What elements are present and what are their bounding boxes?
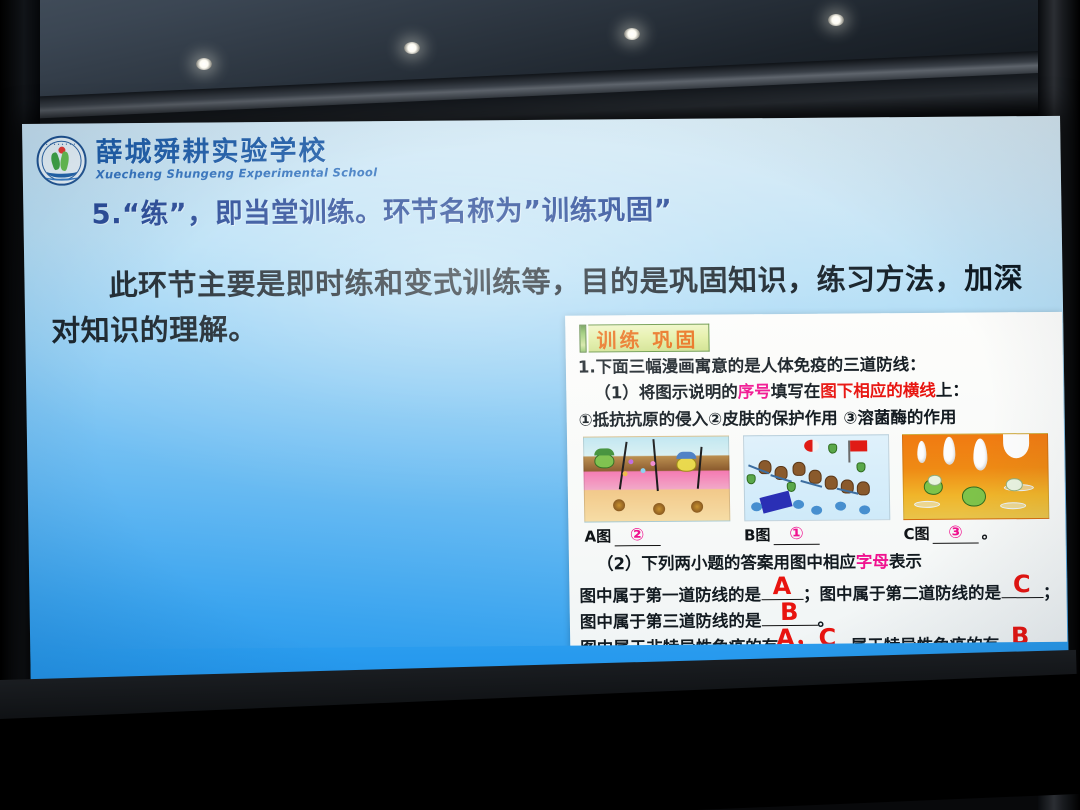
- exercise-tag-label: 训练 巩固: [588, 324, 709, 353]
- recessed-spotlight-icon: [196, 58, 212, 70]
- figure-a-caption: A图 ②: [584, 525, 730, 547]
- sub1-highlight-tuxia: 图下相应的横线: [820, 381, 936, 401]
- figure-row: A图 ②: [577, 433, 1056, 547]
- figure-c-label: C图: [903, 523, 929, 544]
- recessed-spotlight-icon: [404, 42, 420, 54]
- figure-a: A图 ②: [583, 436, 731, 547]
- figure-b-label: B图: [744, 524, 771, 545]
- recessed-spotlight-icon: [624, 28, 640, 40]
- slide-heading: 5.“练”，即当堂训练。环节名称为”训练巩固”: [91, 187, 673, 232]
- school-name-cn: 薛城舜耕实验学校: [95, 137, 377, 166]
- sub1-prefix: （1）将图示说明的: [594, 383, 738, 403]
- exercise-card: 训练 巩固 1.下面三幅漫画寓意的是人体免疫的三道防线： （1）将图示说明的序号…: [565, 312, 1068, 698]
- sub-question-1: （1）将图示说明的序号填写在图下相应的横线上：: [576, 378, 1053, 405]
- answer-1-label-a: 图中属于第一道防线的是: [579, 582, 761, 609]
- question-stem: 1.下面三幅漫画寓意的是人体免疫的三道防线：: [576, 352, 1053, 379]
- figure-b: B图 ①: [742, 434, 890, 545]
- sub1-suffix: 上：: [936, 381, 969, 400]
- figure-c-period: 。: [981, 523, 996, 544]
- skin-cross-section-illustration: [583, 436, 730, 523]
- school-name-en: Xuecheng Shungeng Experimental School: [96, 167, 378, 181]
- answer-line-1: 图中属于第一道防线的是 A ；图中属于第二道防线的是 C ；: [579, 580, 1056, 610]
- immune-battle-illustration: [742, 434, 889, 521]
- figure-b-caption: B图 ①: [744, 523, 890, 545]
- figure-c-caption: C图 ③ 。: [903, 522, 1049, 544]
- sub-question-2: （2）下列两小题的答案用图中相应字母表示: [579, 549, 1056, 576]
- recessed-spotlight-icon: [828, 14, 844, 26]
- slide-header: •••••••• 薛城舜耕实验学校 Xuecheng Shungeng Expe…: [36, 133, 377, 186]
- figure-a-answer: ②: [630, 525, 645, 545]
- projection-screen: •••••••• 薛城舜耕实验学校 Xuecheng Shungeng Expe…: [22, 116, 1070, 736]
- sub1-mid: 填写在: [771, 382, 821, 401]
- pencil-icon: [579, 325, 586, 353]
- school-crest-icon: ••••••••: [36, 135, 87, 185]
- answer-1-blank-b[interactable]: C: [1001, 581, 1043, 598]
- options-line: ①抵抗抗原的侵入②皮肤的保护作用 ③溶菌酶的作用: [577, 405, 1054, 432]
- answer-1-label-c: ；: [1043, 580, 1060, 606]
- exercise-tag-row: 训练 巩固: [579, 321, 1052, 353]
- sub1-highlight-xuhao: 序号: [738, 383, 771, 402]
- answer-2-label-a: 图中属于第三道防线的是: [580, 608, 762, 635]
- sub2-suffix: 表示: [889, 552, 922, 571]
- sub2-highlight-zimu: 字母: [856, 552, 889, 571]
- slide-canvas: •••••••• 薛城舜耕实验学校 Xuecheng Shungeng Expe…: [22, 116, 1070, 736]
- figure-c-answer: ③: [948, 523, 963, 543]
- lysozyme-tears-illustration: [902, 433, 1049, 520]
- figure-a-label: A图: [584, 526, 611, 547]
- figure-b-answer: ①: [789, 524, 804, 544]
- lecture-room-photo: •••••••• 薛城舜耕实验学校 Xuecheng Shungeng Expe…: [0, 0, 1080, 810]
- answer-1-label-b: ；图中属于第二道防线的是: [803, 580, 1001, 608]
- figure-c: C图 ③ 。: [902, 433, 1050, 544]
- sub2-prefix: （2）下列两小题的答案用图中相应: [597, 553, 856, 574]
